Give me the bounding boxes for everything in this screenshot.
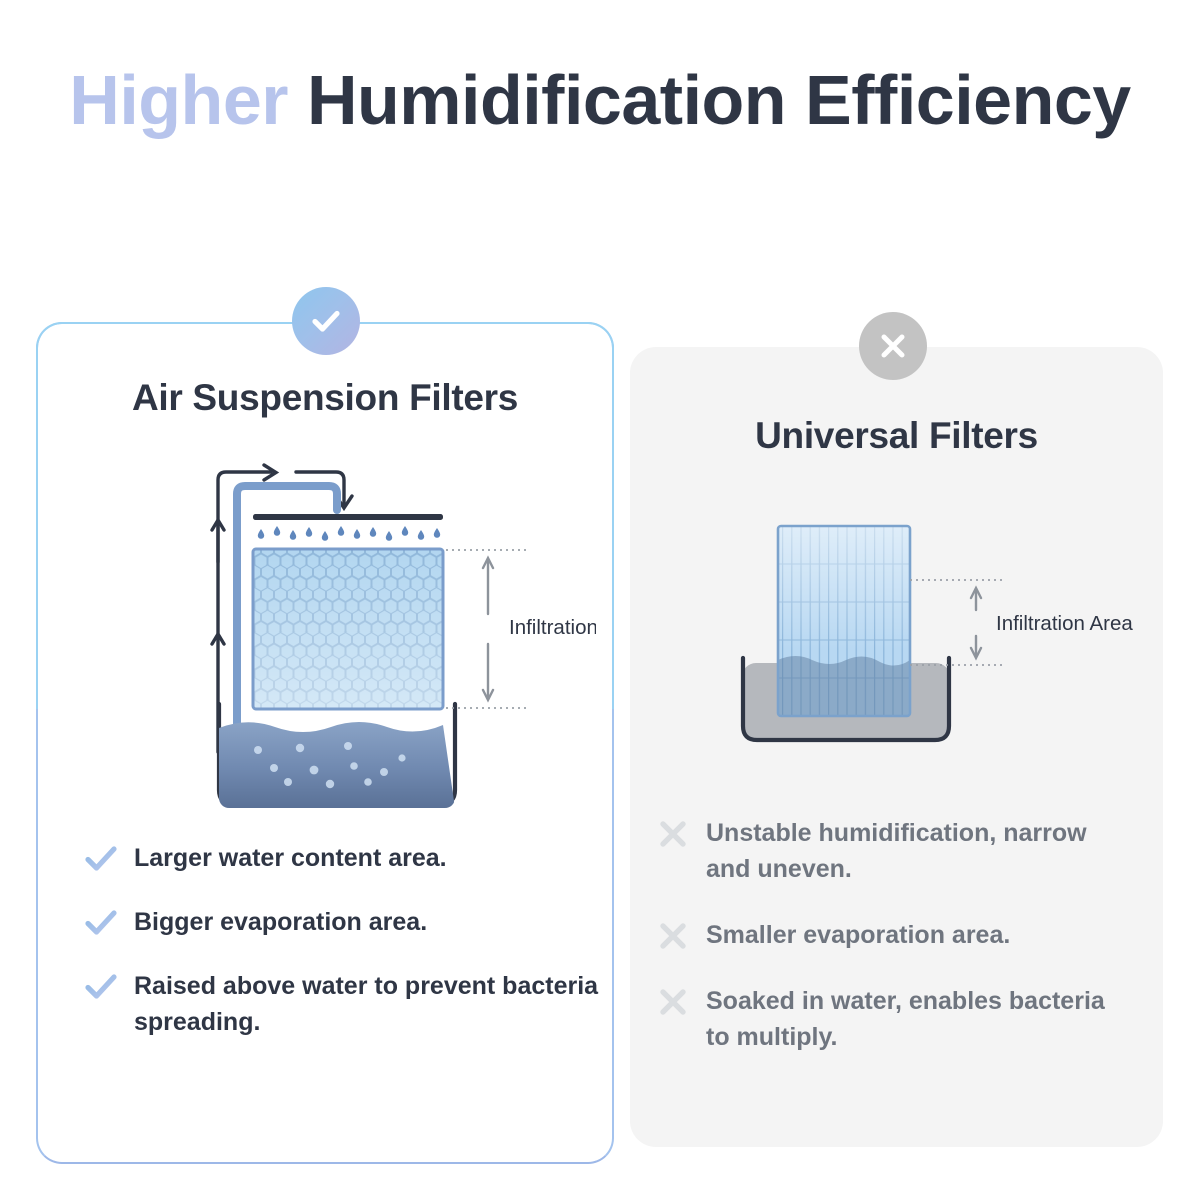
drawbacks-list: Unstable humidification, narrow and unev… xyxy=(656,815,1126,1085)
list-item: Soaked in water, enables bacteria to mul… xyxy=(656,983,1126,1055)
list-item: Unstable humidification, narrow and unev… xyxy=(656,815,1126,887)
x-icon xyxy=(656,985,690,1019)
list-item-label: Soaked in water, enables bacteria to mul… xyxy=(706,983,1126,1055)
list-item-label: Bigger evaporation area. xyxy=(134,904,427,940)
page-title: Higher Humidification Efficiency xyxy=(0,58,1200,142)
benefits-list: Larger water content area. Bigger evapor… xyxy=(84,840,604,1068)
left-card-heading: Air Suspension Filters xyxy=(36,377,614,419)
x-icon xyxy=(656,919,690,953)
right-infiltration-label: Infiltration Area xyxy=(996,612,1133,635)
check-icon xyxy=(84,970,118,1004)
air-suspension-filter-diagram: Infiltration Area xyxy=(196,452,596,817)
check-icon xyxy=(84,906,118,940)
x-circle-icon xyxy=(859,312,927,380)
check-icon xyxy=(84,842,118,876)
universal-filter-diagram: Infiltration Area xyxy=(736,508,1136,773)
list-item: Larger water content area. xyxy=(84,840,604,876)
x-icon xyxy=(656,817,690,851)
list-item: Bigger evaporation area. xyxy=(84,904,604,940)
list-item-label: Unstable humidification, narrow and unev… xyxy=(706,815,1126,887)
title-rest: Humidification Efficiency xyxy=(307,61,1131,139)
infographic-root: Higher Humidification Efficiency Air Sus… xyxy=(0,0,1200,1200)
title-accent-word: Higher xyxy=(69,61,288,139)
check-circle-icon xyxy=(292,287,360,355)
list-item: Raised above water to prevent bacteria s… xyxy=(84,968,604,1040)
list-item-label: Smaller evaporation area. xyxy=(706,917,1010,953)
left-infiltration-label: Infiltration Area xyxy=(509,616,596,639)
list-item-label: Raised above water to prevent bacteria s… xyxy=(134,968,604,1040)
list-item: Smaller evaporation area. xyxy=(656,917,1126,953)
list-item-label: Larger water content area. xyxy=(134,840,447,876)
right-card-heading: Universal Filters xyxy=(630,415,1163,457)
